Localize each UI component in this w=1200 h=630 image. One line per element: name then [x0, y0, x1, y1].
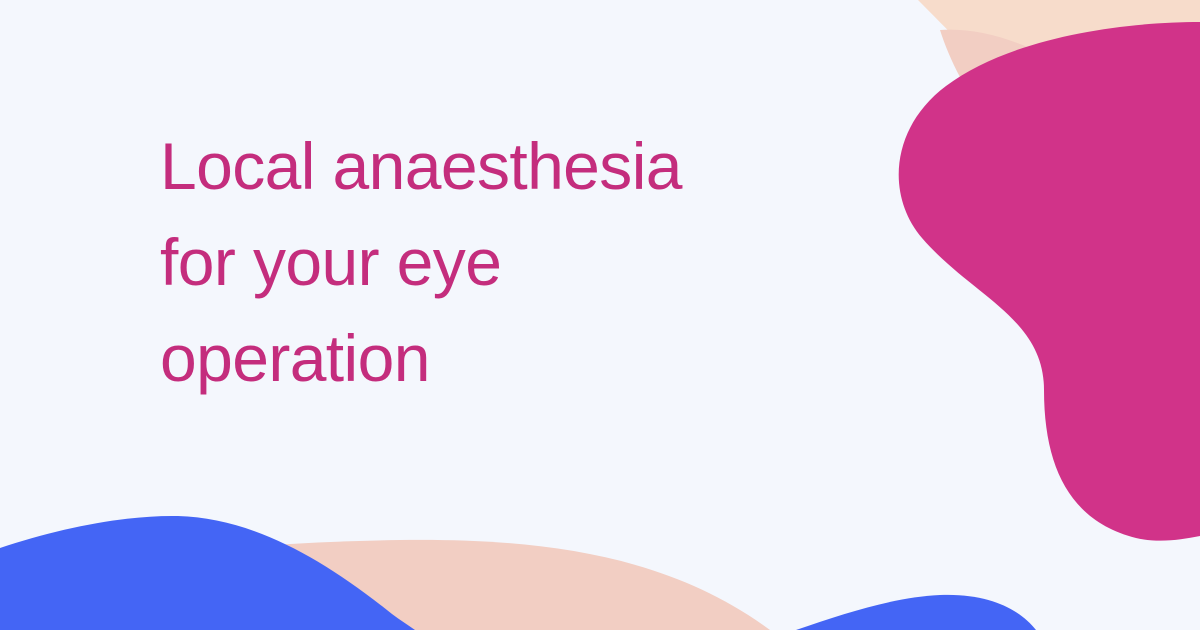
page-title: Local anaesthesia for your eye operation	[160, 118, 860, 406]
title-card: Local anaesthesia for your eye operation	[0, 0, 1200, 630]
card-content: Local anaesthesia for your eye operation	[0, 0, 1200, 630]
